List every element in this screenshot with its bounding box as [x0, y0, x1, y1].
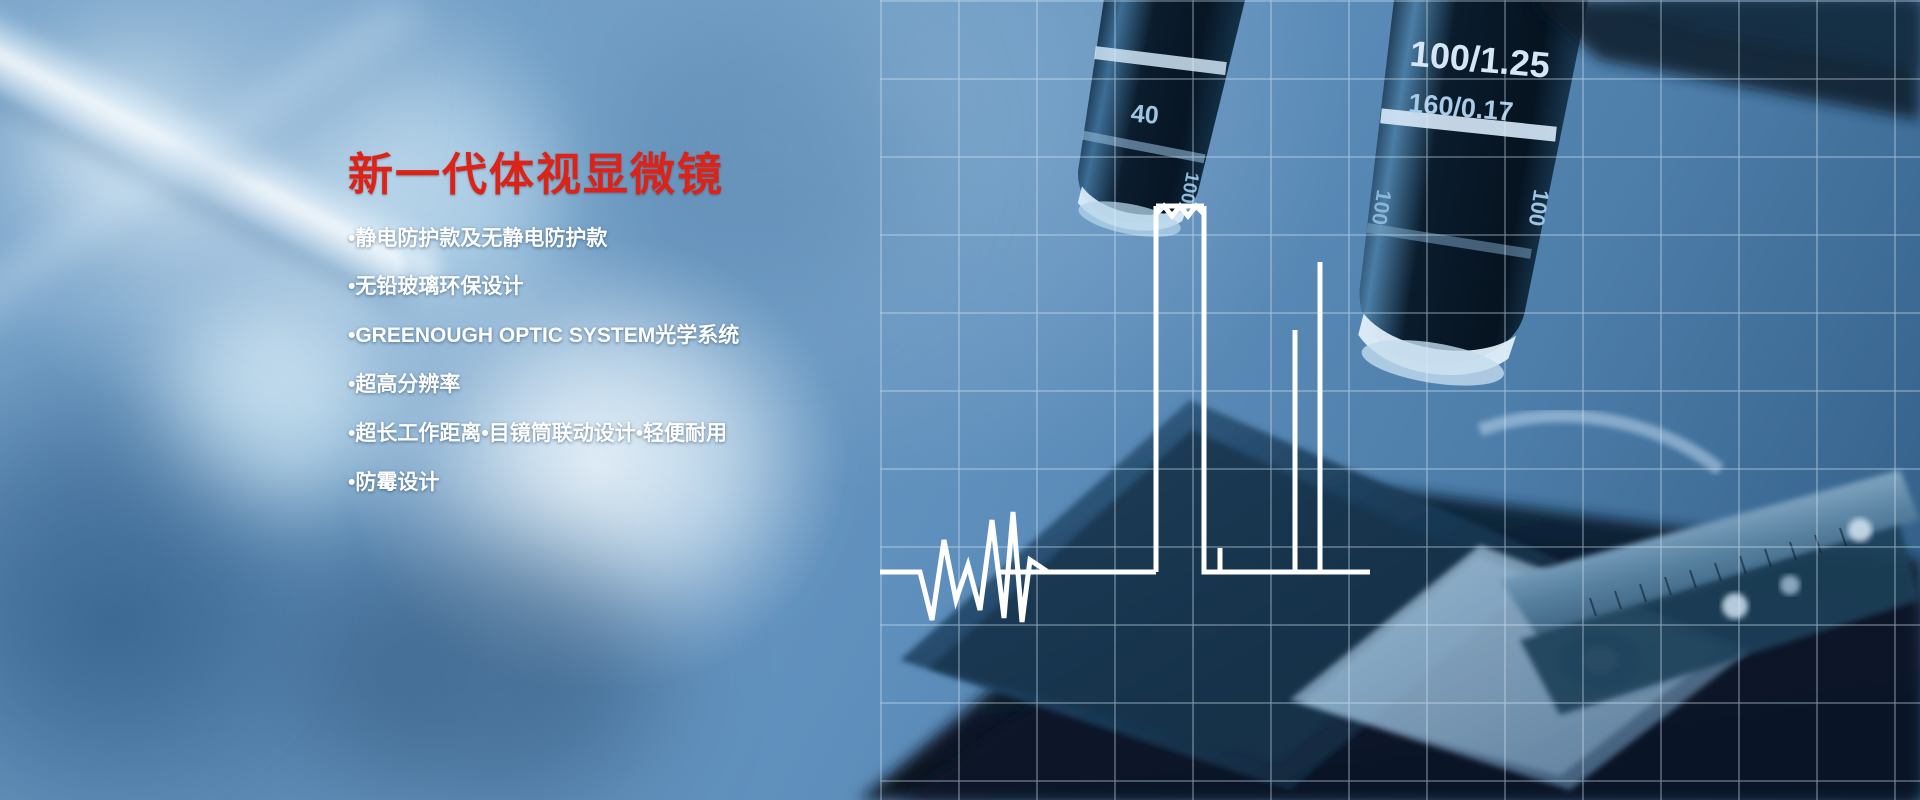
feature-list: •静电防护款及无静电防护款•无铅玻璃环保设计•GREENOUGH OPTIC S…	[348, 226, 988, 497]
feature-list-item: •静电防护款及无静电防护款	[348, 226, 988, 253]
objective-lens-front: 40 100	[1055, 0, 1272, 249]
feature-list-item: •超长工作距离•目镜筒联动设计•轻便耐用	[348, 421, 988, 448]
hero-banner: 40 100 100/1.25 160/0.17 100 100	[0, 0, 1920, 800]
feature-list-item: •无铅玻璃环保设计	[348, 274, 988, 301]
objective-lens-rear: 100/1.25 160/0.17 100 100	[1329, 0, 1617, 399]
feature-list-item: •超高分辨率	[348, 372, 988, 399]
page-title: 新一代体视显微镜	[348, 150, 988, 200]
objective-front-magnification-label: 40	[1130, 100, 1160, 130]
feature-list-item: •防霉设计	[348, 470, 988, 497]
copy-block: 新一代体视显微镜 •静电防护款及无静电防护款•无铅玻璃环保设计•GREENOUG…	[348, 150, 988, 497]
feature-list-item: •GREENOUGH OPTIC SYSTEM光学系统	[348, 323, 988, 350]
